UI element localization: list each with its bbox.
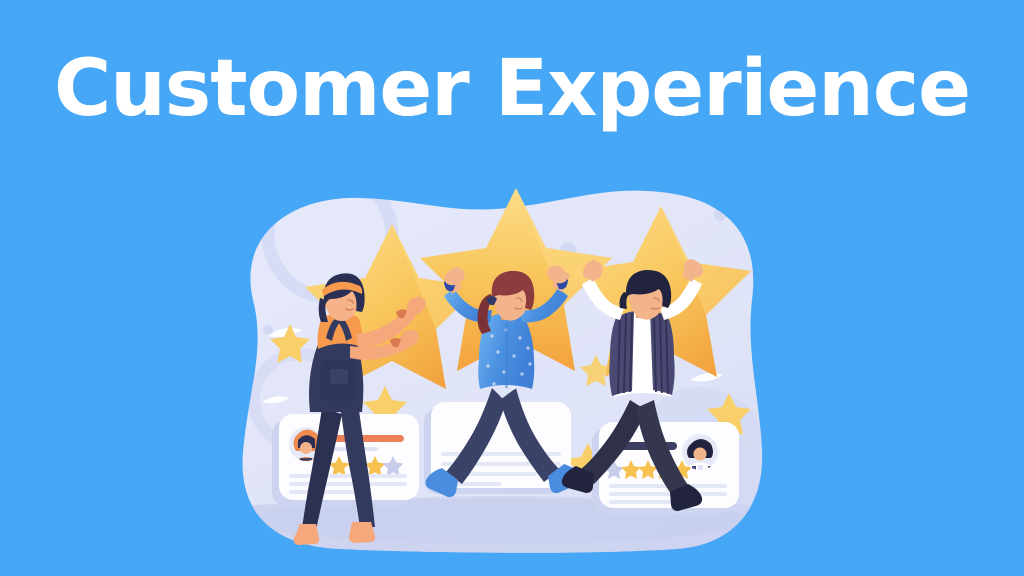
slide-canvas: Customer Experience <box>0 0 1024 576</box>
page-title: Customer Experience <box>0 46 1024 132</box>
